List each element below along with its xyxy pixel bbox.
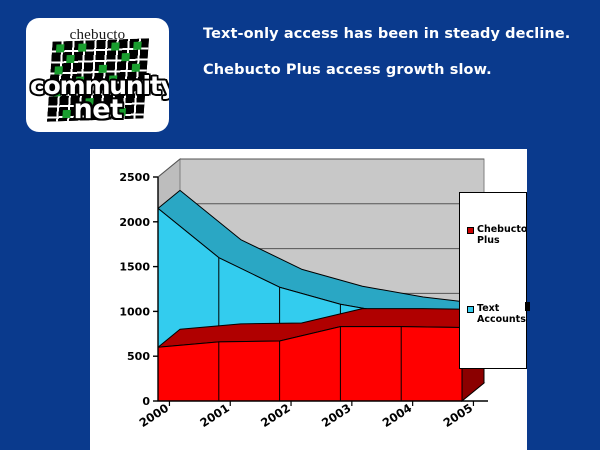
y-axis-tick-label: 0: [142, 395, 150, 408]
legend-item-label: Chebucto Plus: [477, 224, 525, 246]
headline-line-1: Text-only access has been in steady decl…: [203, 26, 570, 42]
x-axis-tick-label: 2002: [258, 401, 292, 430]
y-axis-tick-label: 2500: [119, 171, 150, 184]
y-axis-tick-label: 2000: [119, 216, 150, 229]
legend-swatch-icon: [467, 306, 474, 313]
x-axis-tick-label: 2001: [197, 401, 231, 430]
headline-line-2: Chebucto Plus access growth slow.: [203, 62, 492, 78]
x-axis-tick-label: 2004: [380, 401, 414, 430]
y-axis-tick-label: 1500: [119, 261, 150, 274]
legend-item-chebucto-plus: Chebucto Plus: [467, 224, 525, 246]
slide-canvas: chebucto community net Te: [0, 0, 600, 450]
chart-legend: Chebucto Plus Text Accounts: [459, 192, 527, 369]
logo-card: chebucto community net: [26, 18, 169, 132]
logo-artwork: chebucto community net: [26, 18, 169, 132]
legend-swatch-icon: [467, 227, 474, 234]
logo-word-net: net: [30, 96, 166, 123]
x-axis-tick-label: 2005: [441, 401, 475, 430]
y-axis-tick-label: 1000: [119, 305, 150, 318]
x-axis-tick-label: 2003: [319, 401, 353, 430]
legend-item-label: Text Accounts: [477, 303, 525, 325]
legend-item-text-accounts: Text Accounts: [467, 303, 525, 325]
legend-resize-handle[interactable]: [525, 302, 530, 311]
y-axis-tick-label: 500: [127, 350, 150, 363]
